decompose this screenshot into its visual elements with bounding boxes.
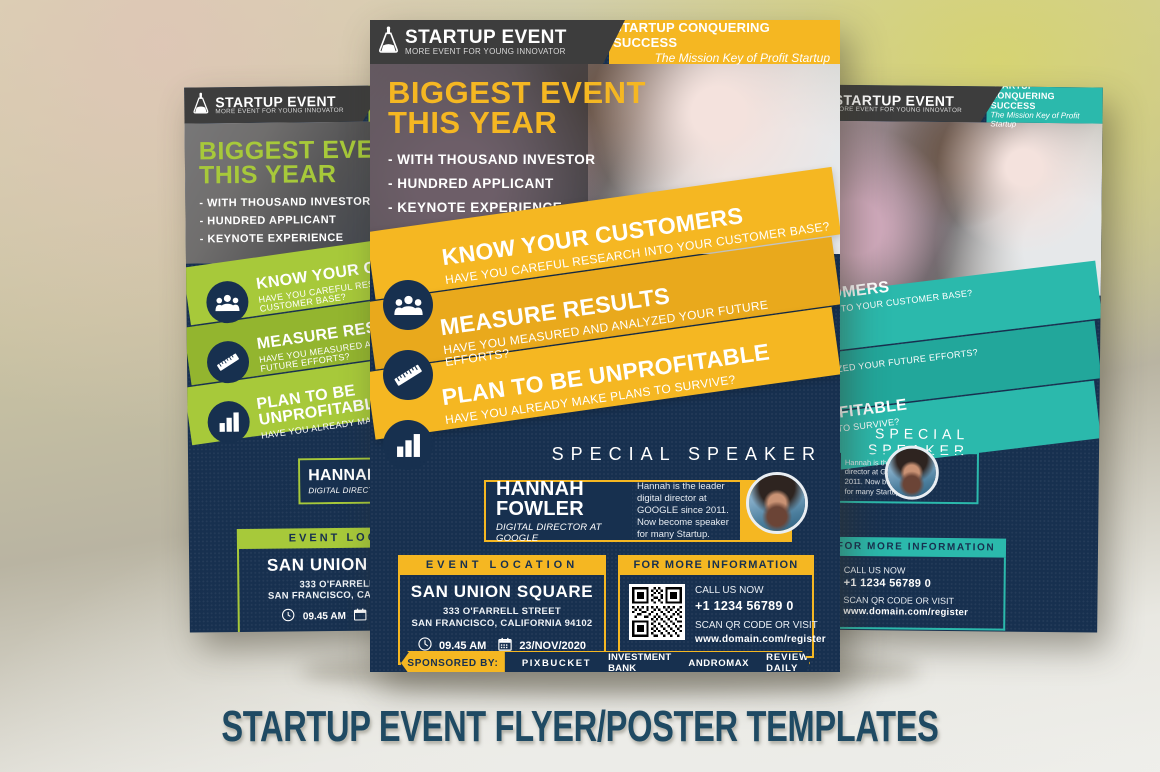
clock-icon	[282, 608, 295, 624]
sponsor-bar: SPONSORED BY: PIXBUCKET INVESTMENT BANK …	[400, 651, 810, 672]
sponsor-list: PIXBUCKET INVESTMENT BANK ANDROMAX REVIE…	[505, 652, 809, 672]
poster-yellow-primary[interactable]: STARTUP EVENT MORE EVENT FOR YOUNG INNOV…	[370, 20, 840, 672]
speaker-role: DIGITAL DIRECTOR AT GOOGLE	[496, 522, 622, 544]
avatar	[885, 445, 940, 500]
hero-title-line2: THIS YEAR	[388, 108, 646, 138]
speaker-card: HANNAH FOWLER DIGITAL DIRECTOR AT GOOGLE…	[484, 480, 792, 542]
people-group-icon	[206, 281, 248, 323]
scan-label: SCAN QR CODE OR VISIT	[843, 594, 968, 607]
event-location-heading: EVENT LOCATION	[398, 555, 606, 575]
accent-title: STARTUP CONQUERING SUCCESS	[991, 84, 1093, 111]
speaker-portrait	[888, 448, 937, 497]
hero-bullet-0: - WITH THOUSAND INVESTOR	[388, 152, 646, 167]
accent-subtitle: The Mission Key of Profit Startup	[655, 51, 830, 65]
poster-header: STARTUP EVENT MORE EVENT FOR YOUNG INNOV…	[802, 84, 1102, 123]
speaker-name: HANNAH FOWLER	[496, 479, 622, 519]
accent-title: STARTUP CONQUERING SUCCESS	[613, 20, 830, 50]
speaker-portrait	[749, 475, 805, 531]
poster-teal-variant[interactable]: STARTUP EVENT MORE EVENT FOR YOUNG INNOV…	[797, 84, 1103, 632]
phone-number: +1 1234 56789 0	[695, 598, 826, 615]
brand-block: STARTUP EVENT MORE EVENT FOR YOUNG INNOV…	[370, 20, 625, 64]
call-label: CALL US NOW	[695, 584, 826, 597]
accent-subtitle: The Mission Key of Profit Startup	[990, 110, 1092, 129]
ruler-icon	[383, 350, 433, 400]
brand-titles: STARTUP EVENT MORE EVENT FOR YOUNG INNOV…	[834, 92, 963, 114]
more-information-heading: FOR MORE INFORMATION	[618, 555, 814, 575]
brand-block: STARTUP EVENT MORE EVENT FOR YOUNG INNOV…	[184, 85, 384, 123]
more-information-heading: FOR MORE INFORMATION	[826, 537, 1006, 558]
bar-chart-icon	[207, 401, 249, 443]
website-url: www.domain.com/register	[843, 606, 968, 620]
header-accent: STARTUP CONQUERING SUCCESS The Mission K…	[986, 86, 1102, 123]
speaker-identity: HANNAH FOWLER DIGITAL DIRECTOR AT GOOGLE	[486, 482, 632, 540]
hero-title-line1: BIGGEST EVENT	[388, 78, 646, 108]
people-group-icon	[383, 280, 433, 330]
bar-chart-icon	[383, 420, 433, 470]
address-line-2: SAN FRANCISCO, CALIFORNIA 94102	[406, 618, 598, 629]
page-title: STARTUP EVENT FLYER/POSTER TEMPLATES	[151, 702, 1009, 752]
brand-titles: STARTUP EVENT MORE EVENT FOR YOUNG INNOV…	[215, 94, 344, 116]
event-location-box: EVENT LOCATION SAN UNION SQUARE 333 O'FA…	[398, 555, 606, 665]
website-url[interactable]: www.domain.com/register	[695, 633, 826, 646]
ruler-icon	[207, 341, 249, 383]
address-line-1: 333 O'FARRELL STREET	[406, 606, 598, 617]
event-time: 09.45 AM	[303, 610, 346, 621]
speaker-bio: Hannah is the leader digital director at…	[632, 482, 740, 540]
information-text: CALL US NOW +1 1234 56789 0 SCAN QR CODE…	[843, 564, 968, 620]
sponsor-item: PIXBUCKET	[522, 658, 591, 669]
qr-code-icon[interactable]	[629, 584, 685, 640]
more-information-box: FOR MORE INFORMATION CALL US NOW +1 1234…	[825, 537, 1006, 630]
brand-name: STARTUP EVENT	[405, 28, 567, 47]
feature-bands: KNOW YOUR CUSTOMERS HAVE YOU CAREFUL RES…	[370, 222, 840, 472]
poster-header: STARTUP EVENT MORE EVENT FOR YOUNG INNOV…	[370, 20, 840, 64]
special-speaker-label: SPECIAL SPEAKER	[522, 444, 822, 465]
flask-icon	[379, 26, 398, 59]
brand-titles: STARTUP EVENT MORE EVENT FOR YOUNG INNOV…	[405, 28, 567, 57]
scene: STARTUP EVENT MORE EVENT FOR YOUNG INNOV…	[0, 0, 1160, 772]
caption-area: STARTUP EVENT FLYER/POSTER TEMPLATES	[0, 702, 1160, 762]
more-information-body: CALL US NOW +1 1234 56789 0 SCAN QR CODE…	[618, 575, 814, 658]
calendar-icon	[354, 608, 367, 624]
avatar	[746, 472, 808, 534]
sponsor-item: REVIEW DAILY	[766, 652, 809, 672]
event-time: 09.45 AM	[439, 640, 486, 652]
more-information-box: FOR MORE INFORMATION	[618, 555, 814, 658]
venue-name: SAN UNION SQUARE	[406, 582, 598, 602]
flask-icon	[193, 92, 208, 119]
brand-tagline: MORE EVENT FOR YOUNG INNOVATOR	[215, 108, 343, 116]
information-text: CALL US NOW +1 1234 56789 0 SCAN QR CODE…	[695, 584, 826, 646]
hero-bullet-1: - HUNDRED APPLICANT	[388, 176, 646, 191]
brand-tagline: MORE EVENT FOR YOUNG INNOVATOR	[834, 107, 962, 115]
scan-label: SCAN QR CODE OR VISIT	[695, 619, 826, 632]
event-date: 23/NOV/2020	[519, 640, 586, 652]
hero-text: BIGGEST EVENT THIS YEAR - WITH THOUSAND …	[388, 78, 646, 215]
more-information-body: CALL US NOW +1 1234 56789 0 SCAN QR CODE…	[825, 556, 1006, 630]
brand-tagline: MORE EVENT FOR YOUNG INNOVATOR	[405, 48, 567, 56]
sponsor-item: INVESTMENT BANK	[608, 652, 671, 672]
sponsor-item: ANDROMAX	[688, 658, 749, 669]
sponsor-label: SPONSORED BY:	[401, 652, 505, 672]
header-accent: STARTUP CONQUERING SUCCESS The Mission K…	[609, 20, 840, 64]
phone-number: +1 1234 56789 0	[844, 576, 969, 592]
